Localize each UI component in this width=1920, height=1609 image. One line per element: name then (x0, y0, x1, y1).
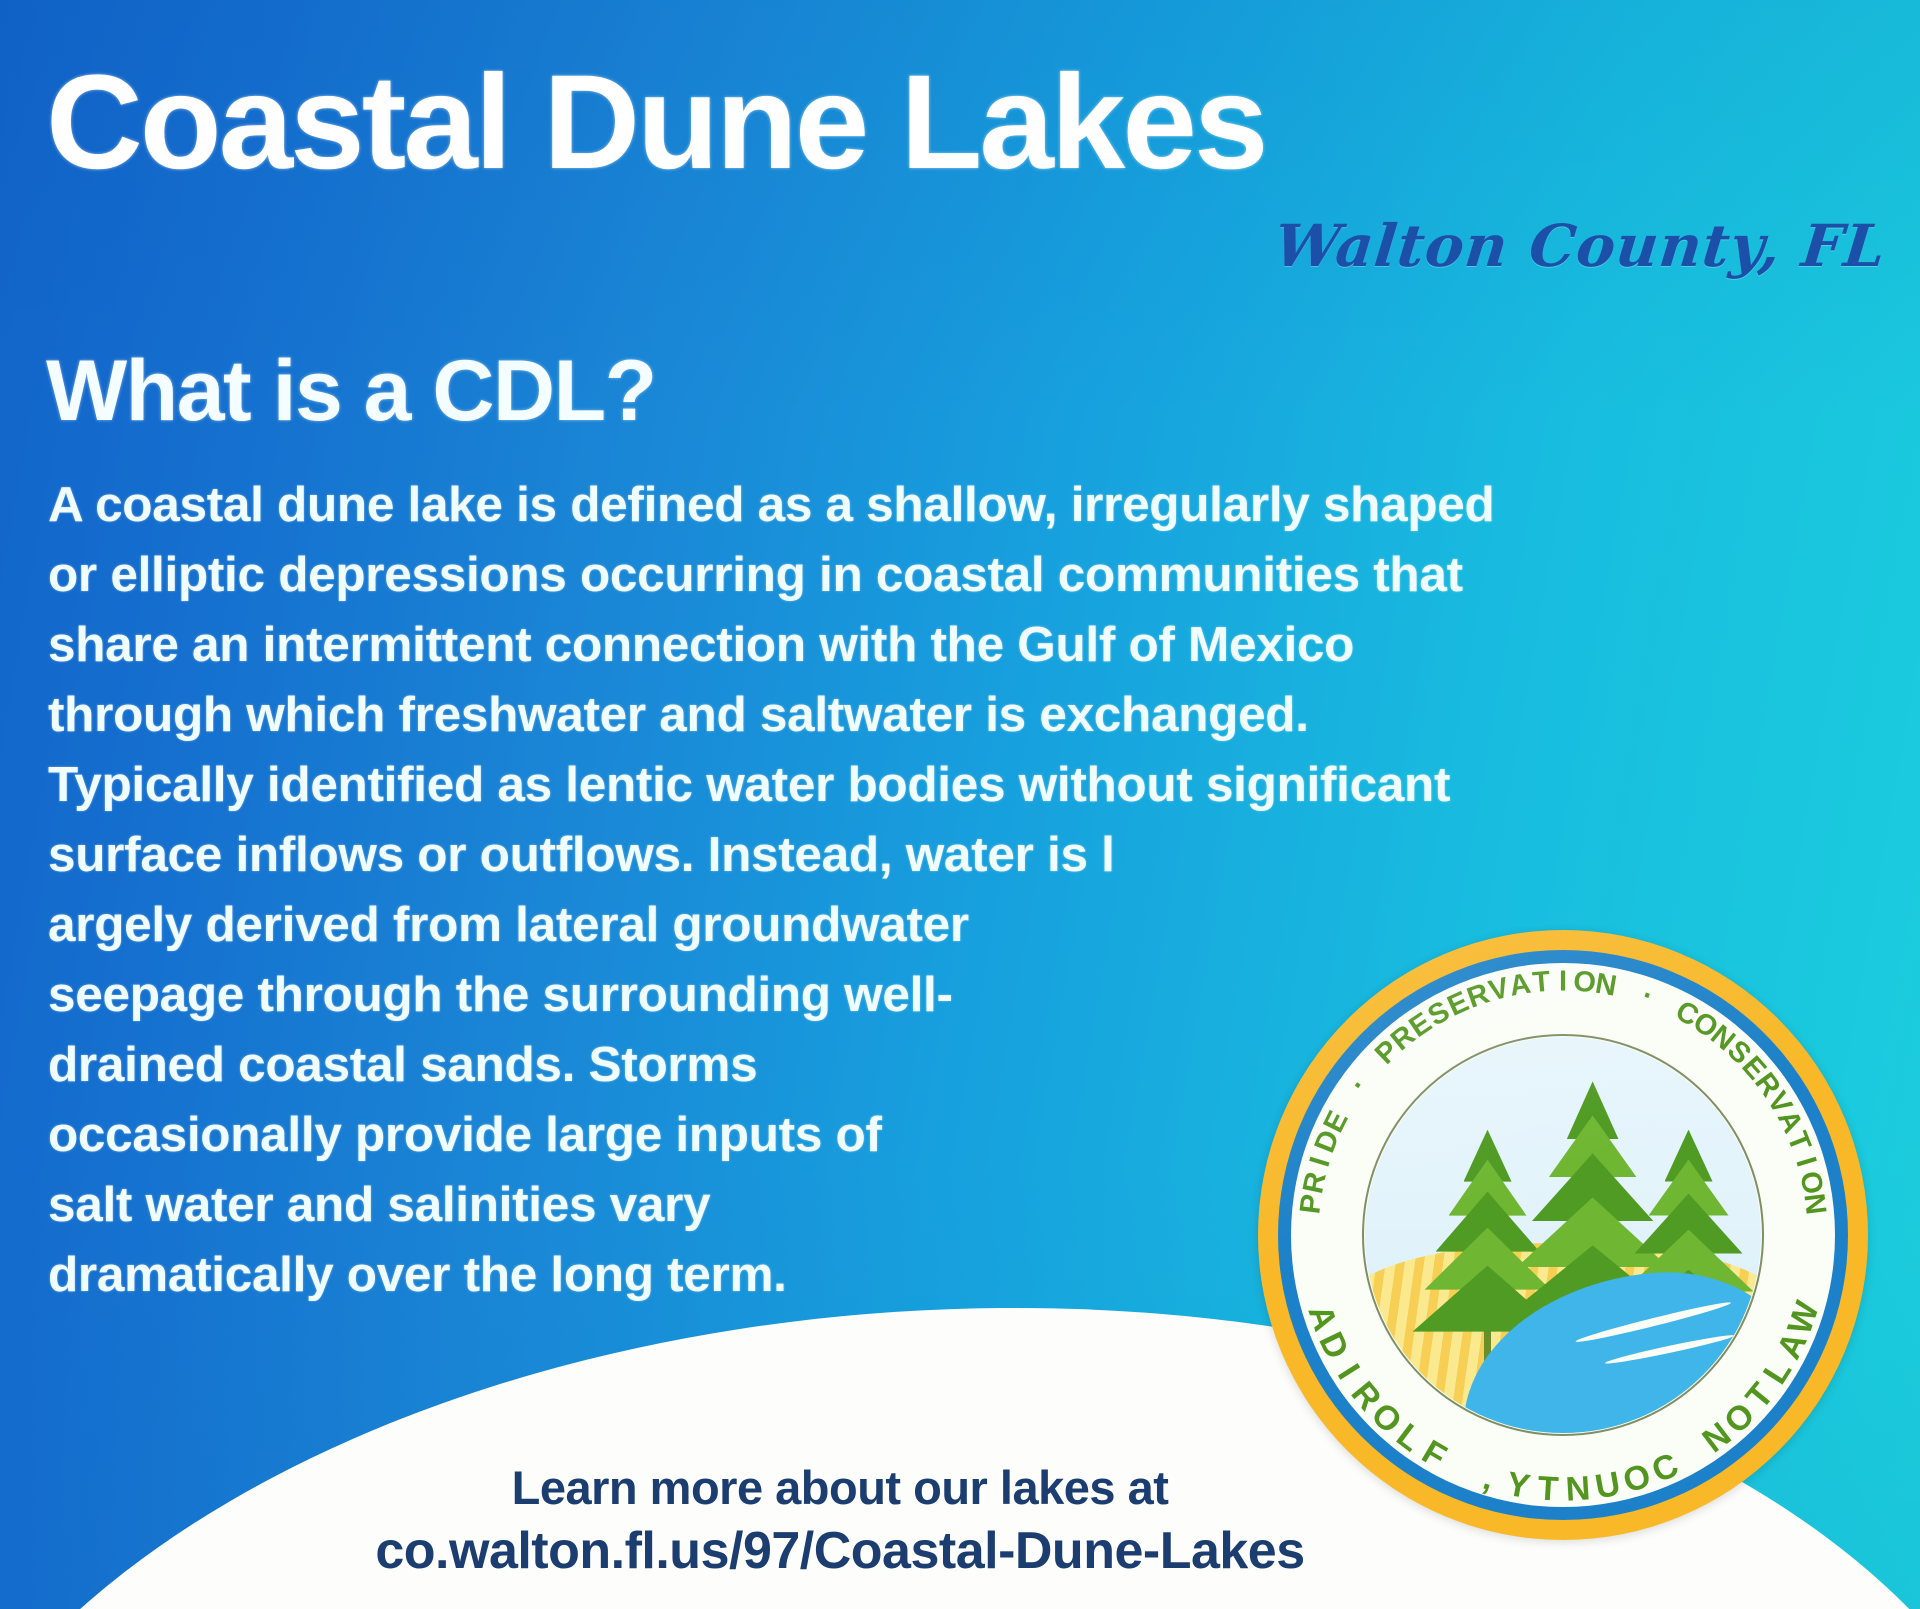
body-line: surface inflows or outflows. Instead, wa… (48, 820, 1538, 890)
seal-letter: N (1796, 1192, 1831, 1217)
seal-letter: T (1531, 966, 1551, 1000)
seal-letter: · (1638, 979, 1658, 1013)
seal-letter: N (1565, 1469, 1592, 1509)
walton-county-seal: PRIDE·PRESERVATION·CONSERVATIONWALTONCOU… (1258, 930, 1868, 1540)
seal-letter: I (1788, 1153, 1822, 1170)
subtitle-script: Walton County, FL (1271, 212, 1889, 280)
seal-letter: · (1343, 1072, 1375, 1099)
body-line: A coastal dune lake is defined as a shal… (48, 470, 1538, 540)
seal-letter: , (1479, 1459, 1499, 1499)
body-line: Typically identified as lentic water bod… (48, 750, 1538, 820)
seal-letter: I (1304, 1153, 1338, 1170)
seal-letter: I (1559, 966, 1567, 999)
seal-letter: U (1592, 1465, 1623, 1508)
section-heading: What is a CDL? (46, 348, 656, 434)
seal-lettering: PRIDE·PRESERVATION·CONSERVATIONWALTONCOU… (1258, 930, 1868, 1540)
seal-letter: N (1593, 968, 1619, 1004)
body-line: share an intermittent connection with th… (48, 610, 1538, 680)
seal-letter: T (1536, 1469, 1559, 1509)
seal-letter: I (1329, 1358, 1367, 1387)
seal-letter: Y (1503, 1465, 1532, 1507)
page-title: Coastal Dune Lakes (46, 56, 1265, 190)
body-line: or elliptic depressions occurring in coa… (48, 540, 1538, 610)
body-line: through which freshwater and saltwater i… (48, 680, 1538, 750)
seal-letter: P (1294, 1193, 1329, 1216)
coastal-dune-lakes-poster: Coastal Dune Lakes Walton County, FL Wha… (0, 0, 1920, 1609)
seal-letter: A (1507, 968, 1533, 1004)
